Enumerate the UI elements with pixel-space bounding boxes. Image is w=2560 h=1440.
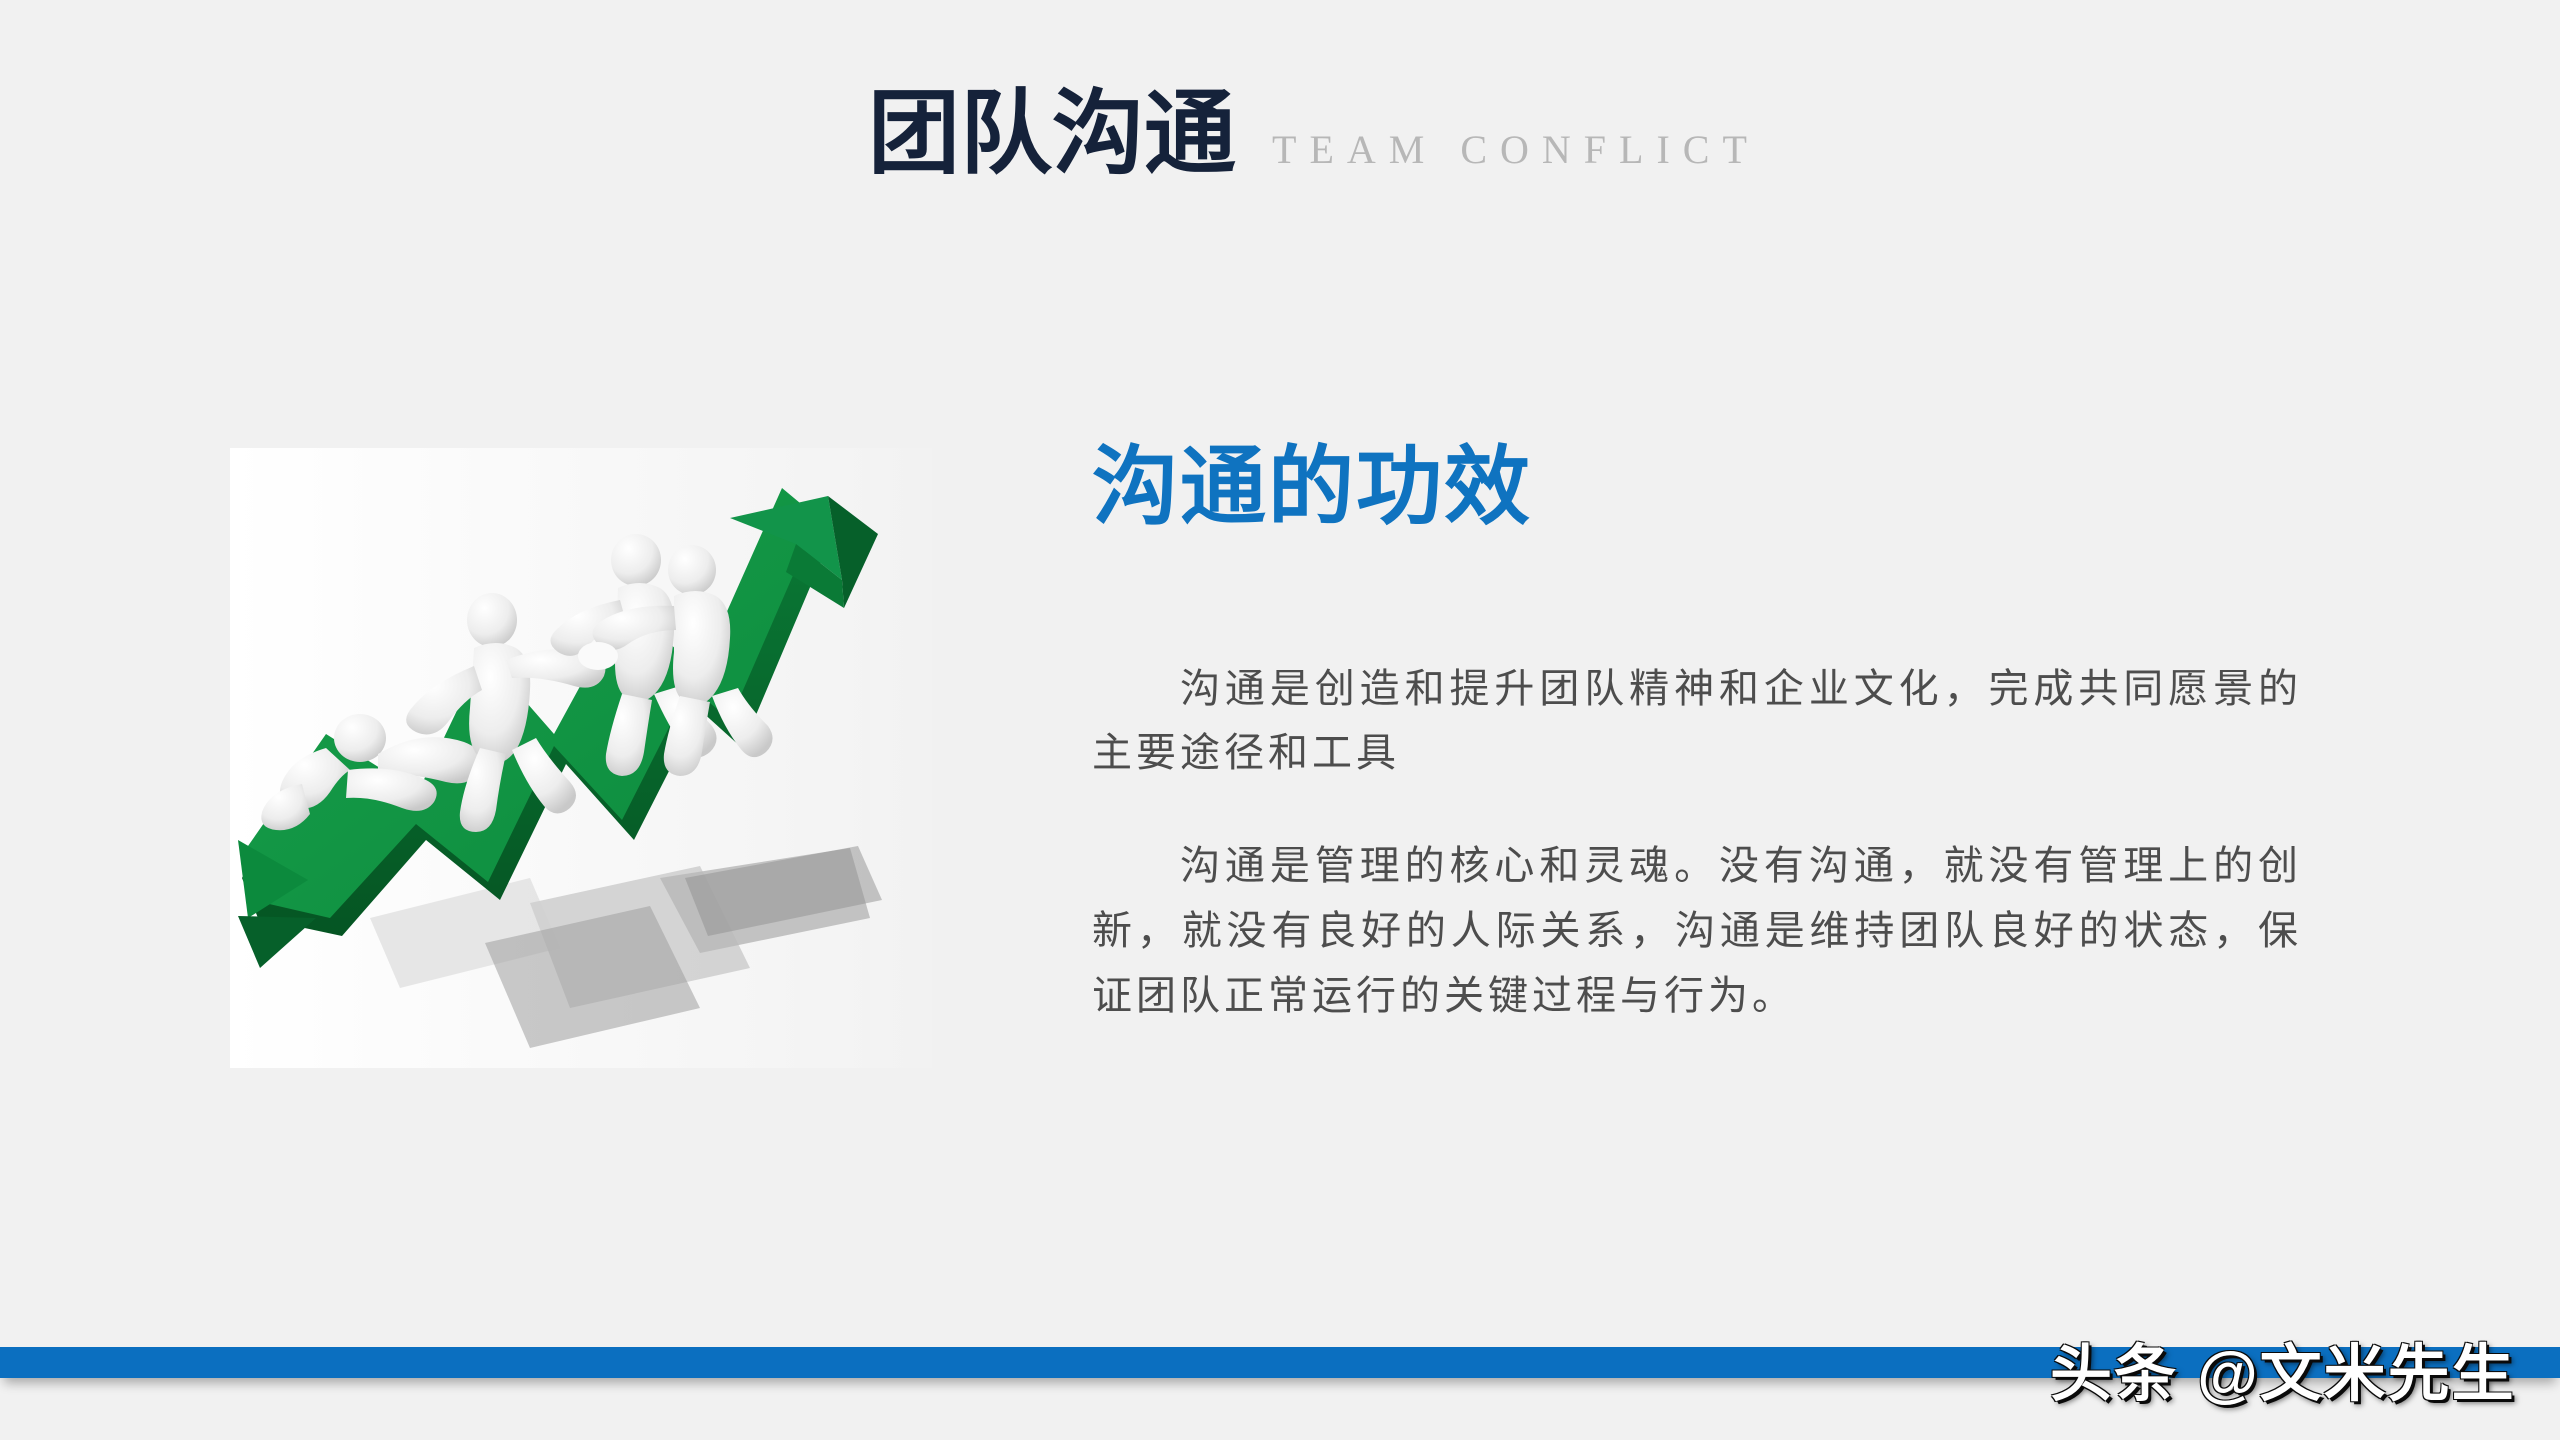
slide-header: 团队沟通 TEAM CONFLICT [868, 88, 1760, 180]
illustration-panel [230, 448, 932, 1068]
page-subtitle: TEAM CONFLICT [1272, 130, 1760, 180]
page-title: 团队沟通 [868, 88, 1236, 180]
section-heading: 沟通的功效 [1092, 440, 2302, 535]
paragraph-2: 沟通是管理的核心和灵魂。没有沟通，就没有管理上的创新，就没有良好的人际关系，沟通… [1092, 834, 2302, 1028]
content-column: 沟通的功效 沟通是创造和提升团队精神和企业文化，完成共同愿景的主要途径和工具 沟… [1092, 440, 2302, 1029]
slide-root: 团队沟通 TEAM CONFLICT [0, 0, 2560, 1440]
watermark-label: 头条 @文米先生 [2050, 1323, 2516, 1413]
paragraph-1: 沟通是创造和提升团队精神和企业文化，完成共同愿景的主要途径和工具 [1092, 657, 2302, 787]
body-text-block: 沟通是创造和提升团队精神和企业文化，完成共同愿景的主要途径和工具 沟通是管理的核… [1092, 657, 2302, 1029]
green-arrow-teamwork-icon [230, 448, 932, 1068]
